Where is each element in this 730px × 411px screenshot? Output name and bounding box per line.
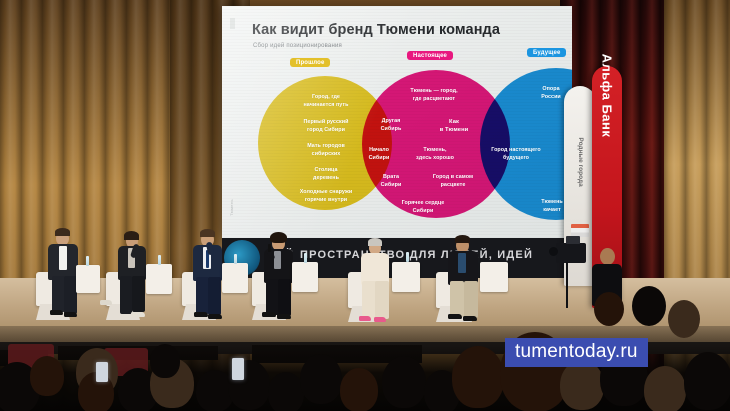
panelist-shoe bbox=[131, 312, 145, 317]
side-table bbox=[392, 262, 420, 292]
video-camera bbox=[556, 243, 586, 263]
banner-alfa-text: Альфа Банк bbox=[600, 54, 615, 138]
venn-item-present-8: Горячее сердце Сибири bbox=[378, 200, 468, 216]
water-bottle bbox=[406, 252, 409, 262]
panelist-hair bbox=[124, 231, 139, 240]
side-table bbox=[76, 265, 100, 293]
operator-head bbox=[600, 248, 615, 265]
banner-rodnye-text: Родные города bbox=[576, 137, 584, 186]
panelist-shoe bbox=[208, 314, 222, 319]
panelist-shoe bbox=[262, 312, 276, 317]
panelist-shirt bbox=[59, 246, 67, 270]
water-bottle bbox=[158, 255, 161, 265]
panelist-hair bbox=[270, 232, 287, 243]
audience-phone bbox=[232, 358, 244, 380]
venn-item-present-4: Начало Сибири bbox=[356, 147, 402, 163]
panelist-shoe bbox=[194, 312, 208, 317]
panelist-shoe bbox=[100, 300, 112, 305]
watermark: tumentoday.ru bbox=[505, 338, 648, 367]
panelist-leg bbox=[132, 276, 145, 312]
panelist-shoe bbox=[359, 316, 371, 321]
venn-item-future-3: Тюмень качает bbox=[524, 199, 572, 215]
venn-item-present-1: Тюмень — город, где расцветают bbox=[378, 88, 490, 104]
panelist-hair bbox=[455, 235, 470, 243]
panelist-shoe bbox=[448, 314, 462, 319]
photograph: Тюмень Как видит бренд Тюмени команда Сб… bbox=[0, 0, 730, 411]
panelist-hair bbox=[368, 238, 382, 246]
venn-label-present: Настоящее bbox=[407, 51, 453, 60]
panelist-shoe bbox=[277, 314, 291, 319]
water-bottle bbox=[304, 253, 307, 263]
microphone bbox=[268, 244, 271, 252]
venn-item-present-7: Город в самом расцвете bbox=[416, 174, 490, 190]
audience-head bbox=[632, 286, 666, 326]
venn-item-past-1: Город, где начинается путь bbox=[278, 94, 374, 110]
audience-head bbox=[560, 360, 604, 410]
venn-item-past-5: Холодные снаружи горячие внутри bbox=[270, 189, 382, 205]
venn-item-present-2: Другая Сибирь bbox=[368, 118, 414, 134]
audience-head bbox=[644, 366, 686, 411]
panelist-shoe bbox=[463, 316, 477, 321]
venn-item-past-2: Первый русский город Сибири bbox=[274, 119, 378, 135]
venn-label-future: Будущее bbox=[527, 48, 566, 57]
projection-screen: Тюмень Как видит бренд Тюмени команда Сб… bbox=[222, 6, 572, 238]
venn-item-present-5: Тюмень, здесь хорошо bbox=[404, 147, 466, 163]
panelist-shoe bbox=[64, 312, 77, 317]
audience-head bbox=[668, 300, 700, 338]
panelist-leg bbox=[120, 276, 132, 314]
venn-diagram: Прошлое Настоящее Будущее Город, где нач… bbox=[222, 6, 572, 238]
side-table bbox=[146, 264, 172, 294]
audience-head bbox=[150, 344, 180, 378]
panelist-leg bbox=[208, 277, 221, 315]
audience-head bbox=[268, 372, 304, 411]
panelist-leg bbox=[464, 281, 478, 318]
audience-head bbox=[340, 368, 378, 411]
panelist-hair bbox=[200, 229, 215, 237]
venn-item-present-3: Как в Тюмени bbox=[428, 118, 480, 135]
panelist-shirt bbox=[274, 251, 281, 269]
venn-item-present-6: Врата Сибири bbox=[368, 174, 414, 190]
audience-head bbox=[382, 356, 426, 408]
watermark-text: tumentoday.ru bbox=[515, 341, 638, 362]
panelist-shirt bbox=[458, 253, 466, 273]
audience-head bbox=[594, 292, 624, 326]
water-bottle bbox=[234, 254, 237, 264]
panelist-leg bbox=[375, 281, 389, 319]
panelist-shoe bbox=[374, 317, 386, 322]
panelist-leg bbox=[450, 281, 464, 317]
water-bottle bbox=[86, 256, 89, 266]
side-table bbox=[222, 263, 248, 293]
panelist-leg bbox=[278, 279, 291, 316]
venn-item-future-1: Опора России bbox=[522, 86, 572, 102]
venn-label-past: Прошлое bbox=[290, 58, 330, 67]
panelist-shoe bbox=[50, 310, 63, 315]
side-table bbox=[480, 262, 508, 292]
audience-head bbox=[452, 346, 504, 408]
backdrop-text: ПРОСТРАНСТВО ДЛЯ ЛЮДЕЙ, ИДЕЙ bbox=[300, 249, 533, 261]
camera-tripod bbox=[566, 262, 568, 308]
side-table bbox=[292, 262, 318, 292]
venn-item-past-4: Столица деревень bbox=[282, 167, 370, 183]
audience-head bbox=[300, 354, 342, 404]
venn-item-future-2: Город настоящего будущего bbox=[470, 147, 562, 163]
audience-head bbox=[684, 352, 730, 410]
panelist-hair bbox=[55, 228, 70, 236]
audience-head bbox=[30, 356, 64, 396]
audience-phone bbox=[96, 362, 108, 382]
